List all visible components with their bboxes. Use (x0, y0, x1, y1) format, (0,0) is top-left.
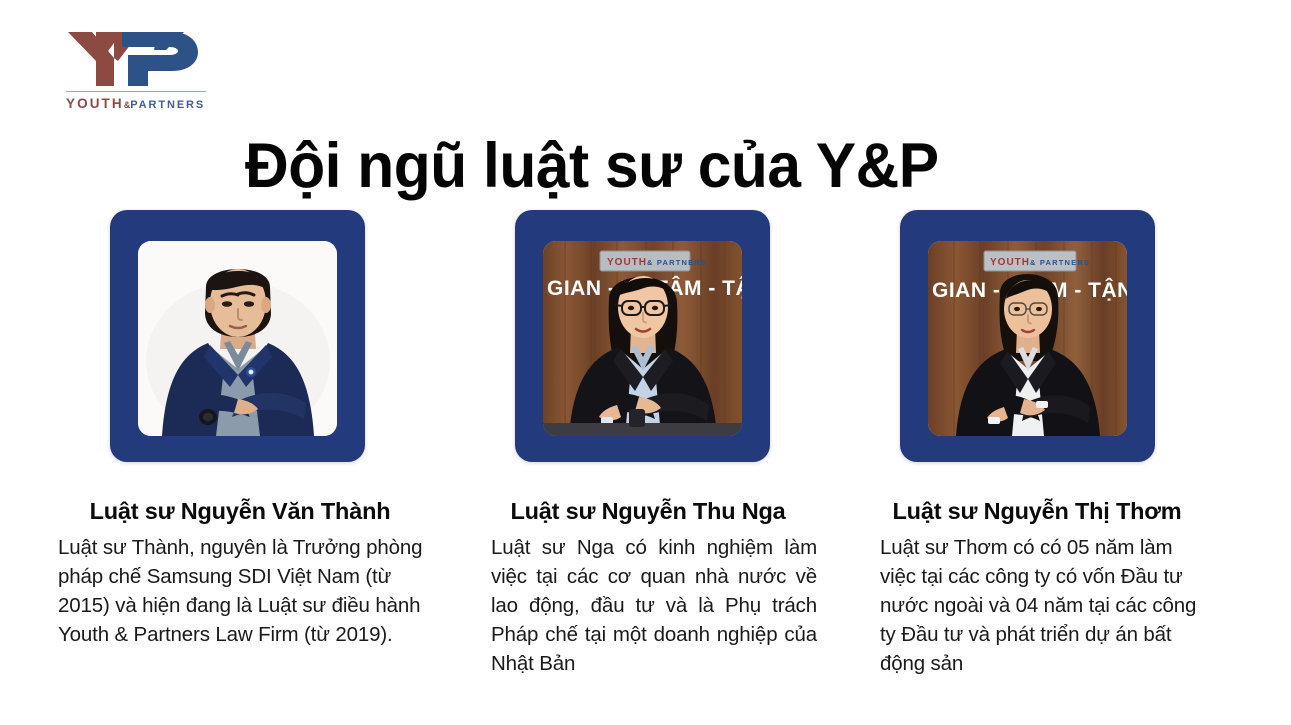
logo-divider (66, 91, 206, 92)
portrait-photo-female-office-icon: YOUTH & PARTNERS GIAN - T TÂM - TẬ (543, 241, 742, 436)
page-title: Đội ngũ luật sư của Y&P (245, 128, 1013, 204)
brand-logo: YOUTH&PARTNERS (62, 28, 212, 118)
logo-wordmark-partners: PARTNERS (130, 99, 205, 111)
team-member-card: YOUTH & PARTNERS GIAN - T TÂM - TẬ (483, 210, 813, 678)
team-member-card: YOUTH & PARTNERS GIAN - TẬ M - TẬN (872, 210, 1202, 678)
yp-monogram-logo-icon (62, 28, 212, 90)
svg-text:YOUTH: YOUTH (990, 257, 1030, 268)
portrait-photo-male-studio-icon (138, 241, 337, 436)
person-name: Luật sư Nguyễn Thu Nga (483, 498, 813, 525)
logo-wordmark-youth: YOUTH (66, 96, 124, 111)
team-member-card: Luật sư Nguyễn Văn Thành Luật sư Thành, … (50, 210, 430, 649)
portrait-photo-female-office-icon: YOUTH & PARTNERS GIAN - TẬ M - TẬN (928, 241, 1127, 436)
person-bio: Luật sư Nga có kinh nghiệm làm việc tại … (491, 533, 817, 678)
logo-wordmark: YOUTH&PARTNERS (66, 96, 212, 111)
photo-frame: YOUTH & PARTNERS GIAN - TẬ M - TẬN (900, 210, 1155, 462)
svg-text:YOUTH: YOUTH (607, 257, 647, 268)
svg-text:M - TẬN: M - TẬN (1050, 278, 1127, 302)
person-bio: Luật sư Thơm có có 05 năm làm việc tại c… (880, 533, 1206, 678)
photo-frame (110, 210, 365, 462)
person-bio: Luật sư Thành, nguyên là Trưởng phòng ph… (58, 533, 426, 649)
person-name: Luật sư Nguyễn Văn Thành (50, 498, 430, 525)
person-name: Luật sư Nguyễn Thị Thơm (872, 498, 1202, 525)
photo-frame: YOUTH & PARTNERS GIAN - T TÂM - TẬ (515, 210, 770, 462)
svg-text:& PARTNERS: & PARTNERS (1030, 258, 1090, 267)
svg-text:& PARTNERS: & PARTNERS (647, 258, 707, 267)
